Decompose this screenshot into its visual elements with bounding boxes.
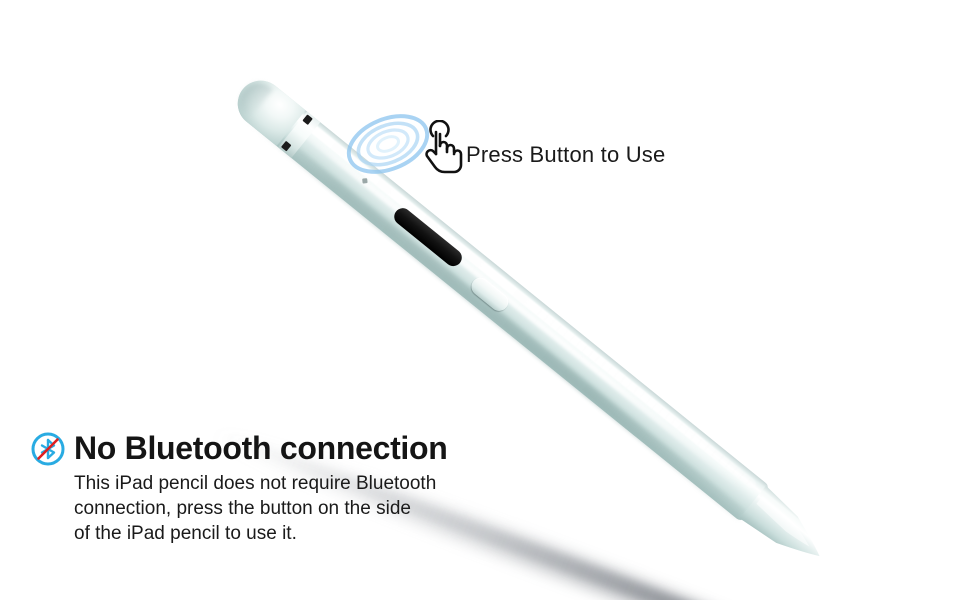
product-image-canvas: Press Button to Use No Bluetooth connect… [0, 0, 970, 600]
press-button-caption: Press Button to Use [466, 142, 665, 168]
callout-body-line-2: connection, press the button on the side [74, 496, 530, 521]
callout-heading-row: No Bluetooth connection [30, 430, 530, 467]
no-bluetooth-callout: No Bluetooth connection This iPad pencil… [30, 430, 530, 546]
led-indicator-dot [362, 178, 367, 183]
tap-hand-icon [420, 120, 470, 176]
callout-body-line-3: of the iPad pencil to use it. [74, 521, 530, 546]
callout-body-line-1: This iPad pencil does not require Blueto… [74, 471, 530, 496]
no-bluetooth-icon [30, 431, 66, 467]
callout-title: No Bluetooth connection [74, 430, 448, 467]
callout-body: This iPad pencil does not require Blueto… [74, 471, 530, 546]
